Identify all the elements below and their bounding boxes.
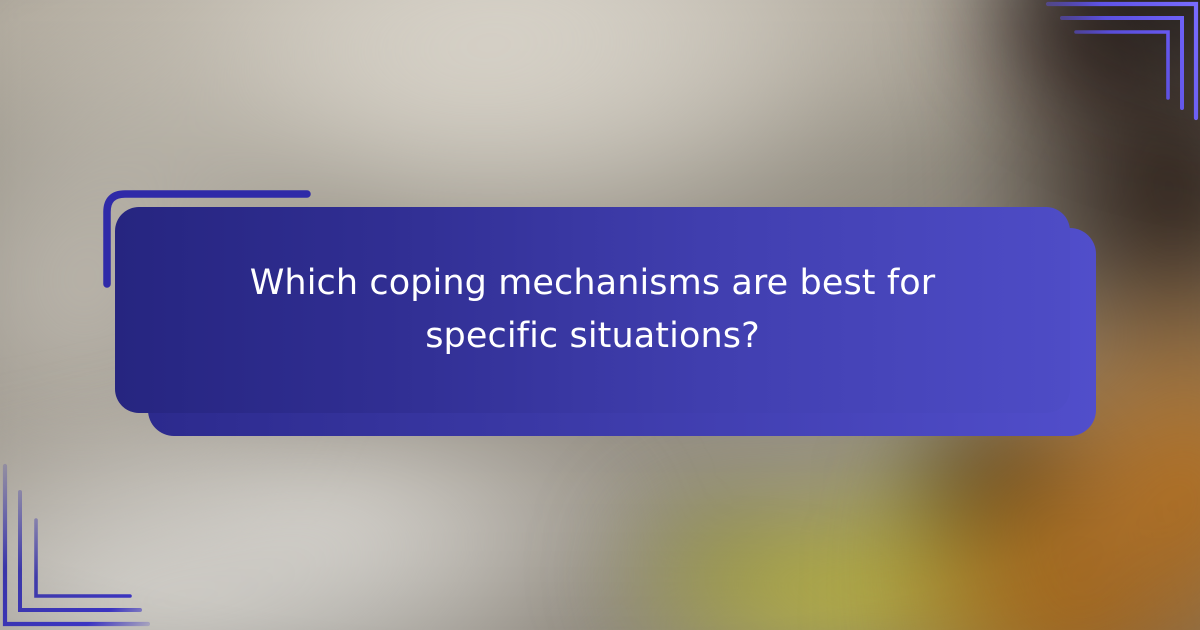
quote-card: Which coping mechanisms are best for spe… [115,207,1070,413]
bottom-left-corner-lines-icon [0,450,150,630]
top-right-corner-lines-icon [1040,0,1200,130]
headline-text: Which coping mechanisms are best for spe… [115,257,1070,363]
poster-canvas: Which coping mechanisms are best for spe… [0,0,1200,630]
